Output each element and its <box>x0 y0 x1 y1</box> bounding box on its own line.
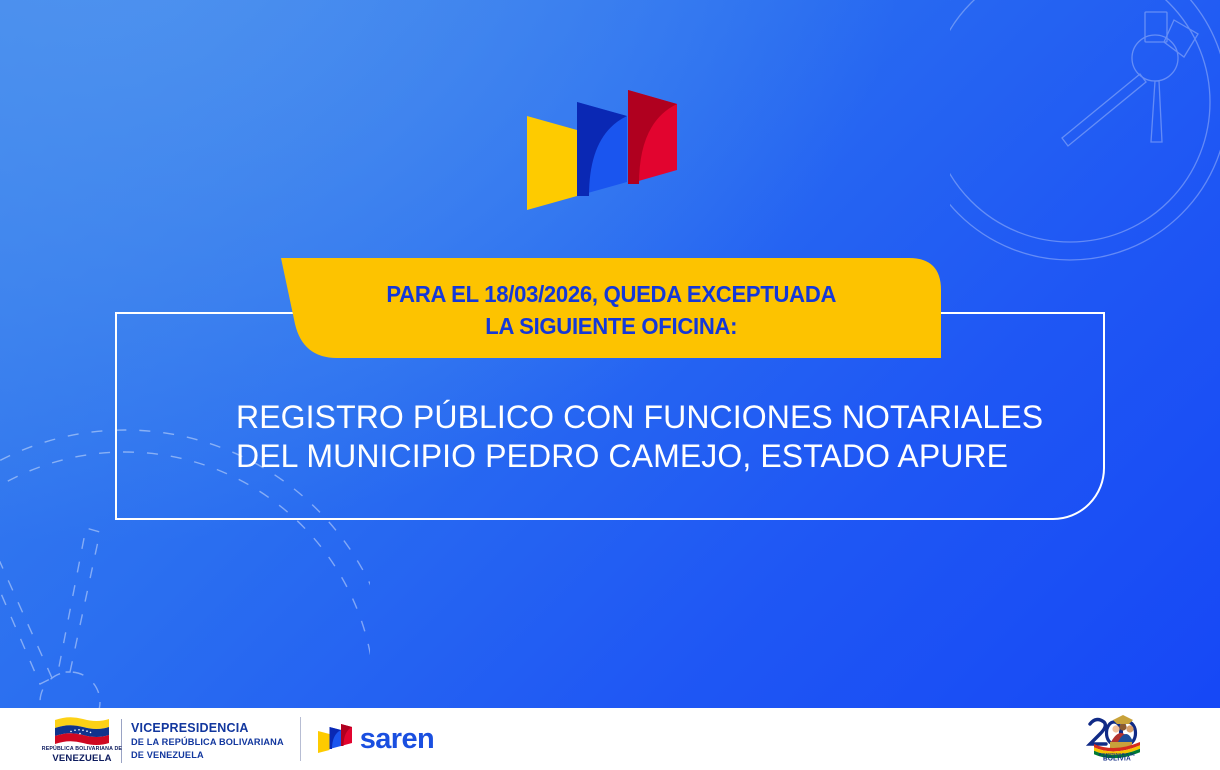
footer-left-logos: REPÚBLICA BOLIVARIANA DE VENEZUELA VICEP… <box>50 715 434 763</box>
divider-1 <box>121 719 122 763</box>
vicepresidencia-text: VICEPRESIDENCIA DE LA REPÚBLICA BOLIVARI… <box>131 719 284 763</box>
vicepresidencia-line-1: VICEPRESIDENCIA <box>131 721 284 736</box>
vicepresidencia-lockup: REPÚBLICA BOLIVARIANA DE VENEZUELA VICEP… <box>50 715 284 763</box>
footer-bar: REPÚBLICA BOLIVARIANA DE VENEZUELA VICEP… <box>0 708 1220 770</box>
saren-mark-icon <box>317 723 353 755</box>
bicentenario-caption-2: BOLIVIA <box>1154 712 1155 713</box>
bicentenario-caption-1: BICENTENARIO DE <box>1154 712 1155 713</box>
saren-logo-icon <box>521 88 685 213</box>
banner-line-2: LA SIGUIENTE OFICINA: <box>485 311 737 341</box>
svg-text:BOLIVIA: BOLIVIA <box>1103 755 1131 762</box>
banner-text-block: PARA EL 18/03/2026, QUEDA EXCEPTUADA LA … <box>281 258 941 358</box>
vicepresidencia-line-3: DE VENEZUELA <box>131 749 284 761</box>
vicepresidencia-line-2: DE LA REPÚBLICA BOLIVARIANA <box>131 736 284 748</box>
office-line-1: REGISTRO PÚBLICO CON FUNCIONES NOTARIALE… <box>236 398 1056 437</box>
saren-wordmark: saren <box>360 725 434 754</box>
compass-divider-icon <box>950 0 1220 262</box>
flag-caption-small: REPÚBLICA BOLIVARIANA DE <box>42 747 122 752</box>
bicentenario-caption-3: 1825 - 2025 <box>1154 712 1155 713</box>
office-line-2: DEL MUNICIPIO PEDRO CAMEJO, ESTADO APURE <box>236 437 1056 476</box>
saren-footer-lockup: saren <box>317 723 434 755</box>
poster-canvas: PARA EL 18/03/2026, QUEDA EXCEPTUADA LA … <box>0 0 1220 770</box>
announcement-banner: PARA EL 18/03/2026, QUEDA EXCEPTUADA LA … <box>281 258 941 358</box>
venezuela-flag-block: REPÚBLICA BOLIVARIANA DE VENEZUELA <box>50 716 114 763</box>
footer-right-logo: BICENTENARIO DE BOLIVIA BICENTENARIO DE … <box>1080 712 1154 767</box>
venezuela-flag-icon <box>53 716 111 746</box>
divider-2 <box>300 717 301 761</box>
banner-line-1: PARA EL 18/03/2026, QUEDA EXCEPTUADA <box>386 279 836 309</box>
office-name-block: REGISTRO PÚBLICO CON FUNCIONES NOTARIALE… <box>236 398 1056 476</box>
flag-caption-large: VENEZUELA <box>52 754 111 764</box>
bicentenario-bolivia-icon: BICENTENARIO DE BOLIVIA <box>1080 712 1154 762</box>
